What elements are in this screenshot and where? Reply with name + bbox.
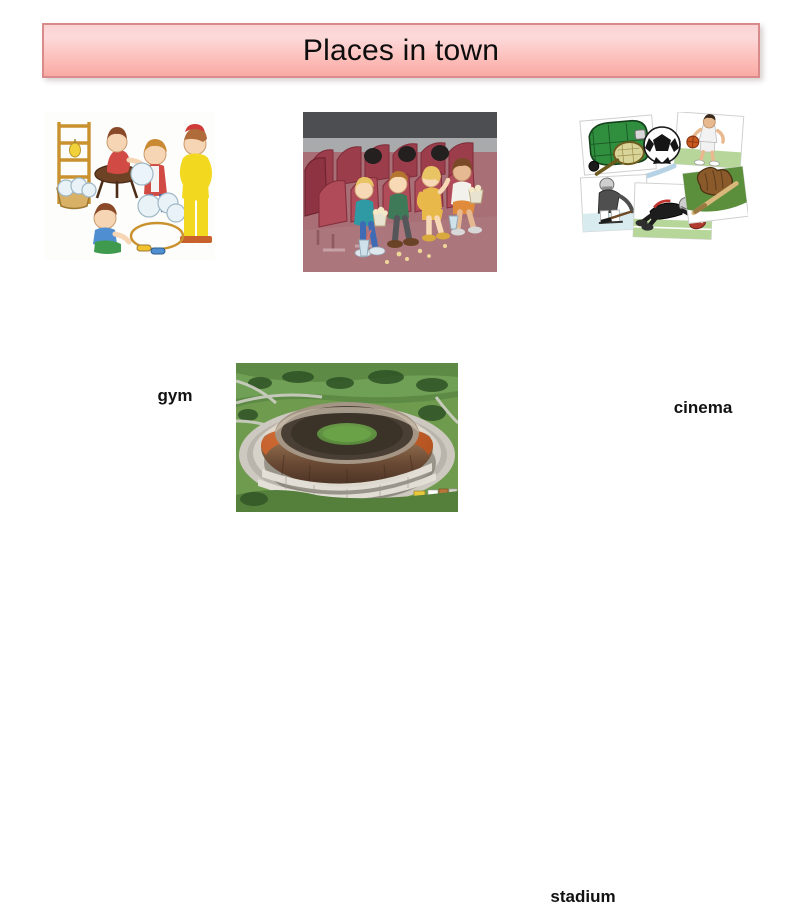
gym-illustration	[45, 112, 215, 260]
page-title: Places in town	[303, 36, 499, 66]
slide-title-banner: Places in town	[42, 23, 760, 78]
picture-card-gym[interactable]: gym	[45, 112, 215, 260]
card-label-cinema: cinema	[606, 398, 800, 418]
sports-centre-collage	[576, 112, 748, 242]
picture-card-sports-centre[interactable]: sports centre	[576, 112, 748, 242]
picture-card-cinema[interactable]: cinema	[303, 112, 497, 272]
cinema-illustration	[303, 112, 497, 272]
stadium-photograph	[236, 363, 458, 512]
picture-card-stadium[interactable]: stadium	[236, 363, 458, 512]
card-label-gym: gym	[90, 386, 260, 406]
card-label-stadium: stadium	[472, 887, 694, 907]
